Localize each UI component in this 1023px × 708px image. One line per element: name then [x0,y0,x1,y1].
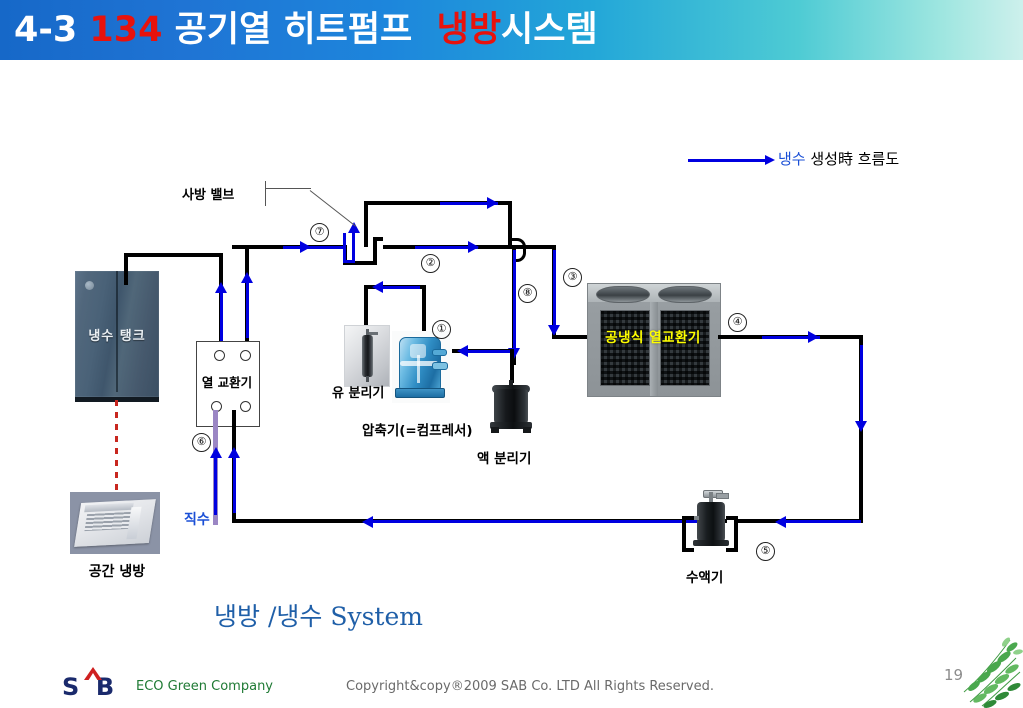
leaf-decoration-icon [960,636,1023,708]
flow-arrow-down-right [855,421,867,432]
callout-2: ② [421,254,440,273]
receiver-bracket-right-b [726,548,738,552]
valve-leader-diagonal [310,190,356,226]
flow-arrow-up-direct-water [210,447,222,458]
flow-bottom-main [370,520,718,523]
pipe-tank-top [124,253,223,257]
hx-port-top-right [240,350,251,361]
liquid-separator-image [489,380,533,434]
flow-arrow-left-suction [457,345,468,357]
flow-valve-left-top [283,246,345,249]
title-number: 134 [89,10,162,50]
flow-arrow-up-hx-a [215,282,227,293]
flow-arrow-up-hx-b [241,272,253,283]
copyright-text: Copyright&copy®2009 SAB Co. LTD All Righ… [346,679,714,694]
flow-arrow-up-return [228,447,240,458]
slide-canvas: 4-3 134 공기열 히트펌프 냉방시스템 냉수 생성時 흐름도 냉수 탱크 … [0,0,1023,708]
callout-4: ④ [728,313,747,332]
flow-valve-u-right [352,233,355,263]
indoor-unit-label: 공간 냉방 [72,561,162,581]
flow-right-to-receiver [783,520,861,523]
flow-hx-port-a [220,290,223,345]
callout-5: ⑤ [756,542,775,561]
pipe-oilsep-riser [364,285,368,329]
valve-leader-tick [265,181,266,206]
eco-tagline: ECO Green Company [136,679,273,694]
flow-direct-water [214,455,217,515]
valve-leader-h [265,188,311,189]
logo-chevron-inner-icon [88,673,98,681]
callout-6: ⑥ [192,433,211,452]
flow-arrow-right-top [487,197,498,209]
receiver-bracket-left-t [682,516,694,520]
flow-arrow-left-oilsep [372,281,383,293]
flow-arrow-right-valve-top [300,241,311,253]
tank-to-indoor-dotted-line [115,400,118,492]
receiver-image [693,492,729,550]
pipe-to-outdoor-left [552,335,590,339]
title-suffix: 시스템 [501,10,598,50]
system-title: 냉방 /냉수 System [214,597,423,633]
heat-exchanger-label: 열 교환기 [196,372,258,391]
receiver-bracket-left-b [682,548,694,552]
flow-line-three [553,250,556,328]
legend-label-blue: 냉수 [778,150,806,168]
pipe-valve-jog-h2 [373,237,383,241]
hx-port-bottom-right [240,401,251,412]
pipe-suction-down [510,349,514,383]
title-mid: 공기열 히트펌프 [175,10,413,50]
compressor-image [392,331,450,403]
liquid-separator-label: 액 분리기 [477,447,531,467]
callout-7: ⑦ [310,223,329,242]
flow-arrow-right-outdoor [808,331,819,343]
pipe-tank-riser [124,255,128,285]
pipe-top-discharge-down-left [364,201,368,247]
four-way-valve-label: 사방 밸브 [182,184,234,203]
flow-arrow-right-line-two [468,241,479,253]
flow-oilsep-top [380,286,420,289]
oil-separator-label: 유 분리기 [332,382,384,401]
legend-arrow-icon [688,159,766,162]
receiver-label: 수액기 [686,566,723,586]
compressor-label: 압축기(=컴프레서) [362,419,473,439]
cold-water-tank-label: 냉수 탱크 [75,325,159,344]
flow-hx-port-b [246,280,249,338]
legend-label: 냉수 생성時 흐름도 [778,148,899,169]
flow-hx-bottom-return [233,455,236,513]
callout-1: ① [432,320,451,339]
flow-valve-u-left [343,233,346,263]
direct-water-label: 직수 [184,509,210,529]
legend-label-black: 생성時 흐름도 [806,150,900,168]
oil-separator-image [344,325,390,387]
receiver-bracket-left-v [682,516,686,552]
page-title: 4-3 134 공기열 히트펌프 냉방시스템 [14,4,598,56]
flow-suction [466,350,510,353]
callout-3: ③ [563,268,582,287]
pipe-crossing-right [521,245,556,249]
flow-right-down [860,345,863,425]
hx-port-top-left [214,350,225,361]
pipe-compressor-riser [422,285,426,331]
flow-line-eight [513,250,516,350]
indoor-unit-image [70,492,160,554]
flow-arrow-left-bottom [362,516,373,528]
receiver-bracket-right-v [734,516,738,552]
flow-valve-u-bottom [343,260,355,263]
callout-8: ⑧ [518,284,537,303]
logo-letter-s: S [62,673,78,701]
flow-arrow-left-receiver [775,516,786,528]
title-highlight: 냉방 [437,10,501,50]
slide-header: 4-3 134 공기열 히트펌프 냉방시스템 [0,0,1023,60]
air-cooled-heat-exchanger-label: 공냉식 열교환기 [587,326,719,346]
receiver-bracket-right-t [726,516,738,520]
title-prefix: 4-3 [14,10,77,50]
